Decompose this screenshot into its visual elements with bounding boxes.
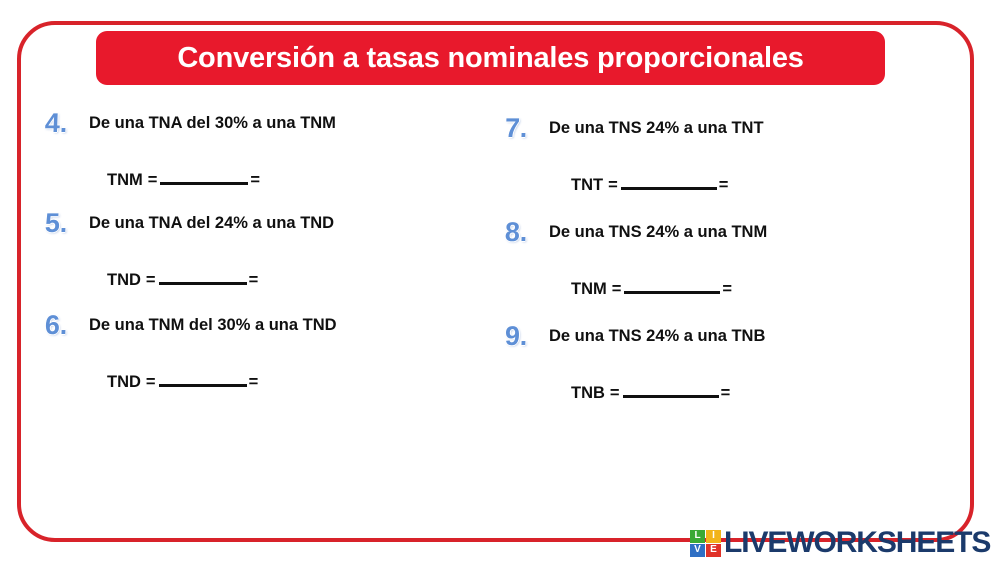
exercise-prompt: De una TNM del 30% a una TND [89,310,475,336]
answer-row: TND = = [45,267,475,290]
exercise-item-9: 9. De una TNS 24% a una TNB TNB = = [505,321,935,403]
answer-equals-sign: = [610,384,620,403]
logo-cell-v: V [690,544,705,557]
answer-label: TNM [571,280,607,299]
answer-row: TND = = [45,369,475,392]
answer-blank-input[interactable] [159,267,247,285]
answer-row: TNM = = [45,167,475,190]
exercise-item-8: 8. De una TNS 24% a una TNM TNM = = [505,217,935,299]
exercise-prompt-row: 9. De una TNS 24% a una TNB [505,321,935,350]
answer-equals-sign: = [146,373,156,392]
exercise-prompt-row: 5. De una TNA del 24% a una TND [45,208,475,237]
logo-letter-grid-icon: L I V E [690,530,721,557]
answer-label: TNB [571,384,605,403]
exercise-prompt-row: 6. De una TNM del 30% a una TND [45,310,475,339]
answer-equals-sign: = [612,280,622,299]
exercise-prompt: De una TNS 24% a una TNM [549,217,935,243]
exercise-column-right: 7. De una TNS 24% a una TNT TNT = = 8. D… [505,113,935,425]
exercise-prompt: De una TNA del 30% a una TNM [89,108,475,134]
exercise-number: 4. [44,108,89,137]
answer-equals-sign: = [148,171,158,190]
exercise-prompt: De una TNS 24% a una TNB [549,321,935,347]
exercise-item-4: 4. De una TNA del 30% a una TNM TNM = = [45,108,475,190]
answer-blank-input[interactable] [623,380,719,398]
answer-blank-input[interactable] [624,276,720,294]
exercise-item-6: 6. De una TNM del 30% a una TND TND = = [45,310,475,392]
answer-equals-sign: = [146,271,156,290]
logo-cell-i: I [706,530,721,543]
worksheet-page: Conversión a tasas nominales proporciona… [0,0,1000,566]
answer-row: TNT = = [505,172,935,195]
liveworksheets-logo[interactable]: L I V E LIVEWORKSHEETS [690,524,990,562]
logo-wordmark: LIVEWORKSHEETS [724,528,990,558]
exercise-prompt-row: 4. De una TNA del 30% a una TNM [45,108,475,137]
exercise-number: 7. [504,113,549,142]
exercise-prompt-row: 8. De una TNS 24% a una TNM [505,217,935,246]
exercise-item-7: 7. De una TNS 24% a una TNT TNT = = [505,113,935,195]
answer-label: TND [107,373,141,392]
answer-label: TNT [571,176,603,195]
logo-cell-l: L [690,530,705,543]
exercise-prompt: De una TNA del 24% a una TND [89,208,475,234]
answer-trailing-equals-sign: = [249,271,259,290]
answer-row: TNM = = [505,276,935,299]
exercise-number: 5. [44,208,89,237]
answer-blank-input[interactable] [159,369,247,387]
exercise-number: 9. [504,321,549,350]
exercise-prompt: De una TNS 24% a una TNT [549,113,935,139]
answer-label: TND [107,271,141,290]
answer-trailing-equals-sign: = [722,280,732,299]
answer-blank-input[interactable] [621,172,717,190]
answer-trailing-equals-sign: = [719,176,729,195]
answer-trailing-equals-sign: = [721,384,731,403]
answer-equals-sign: = [608,176,618,195]
answer-label: TNM [107,171,143,190]
exercise-prompt-row: 7. De una TNS 24% a una TNT [505,113,935,142]
title-banner: Conversión a tasas nominales proporciona… [96,31,885,85]
answer-trailing-equals-sign: = [250,171,260,190]
answer-blank-input[interactable] [160,167,248,185]
page-title: Conversión a tasas nominales proporciona… [177,44,803,73]
exercise-column-left: 4. De una TNA del 30% a una TNM TNM = = … [45,108,475,408]
answer-trailing-equals-sign: = [249,373,259,392]
answer-row: TNB = = [505,380,935,403]
logo-cell-e: E [706,544,721,557]
exercise-number: 8. [504,217,549,246]
exercise-number: 6. [44,310,89,339]
exercise-item-5: 5. De una TNA del 24% a una TND TND = = [45,208,475,290]
